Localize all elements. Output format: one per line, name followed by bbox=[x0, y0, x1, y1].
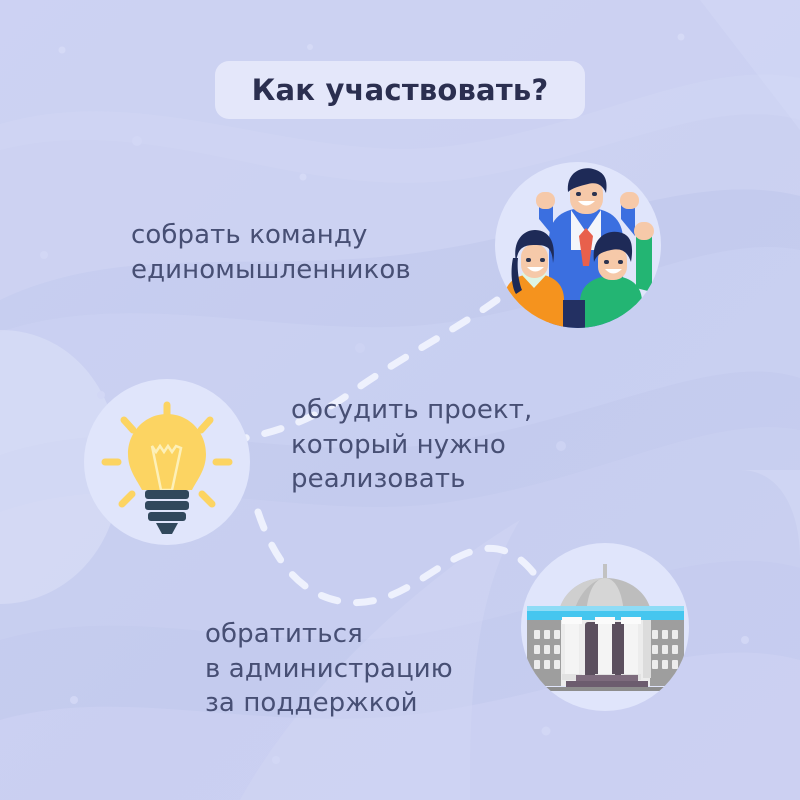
bulb-glass bbox=[128, 414, 206, 490]
step-3-caption: обратиться в администрацию за поддержкой bbox=[205, 617, 453, 721]
roof-band-light bbox=[527, 606, 684, 611]
window bbox=[652, 660, 658, 669]
bulb-base-ring-3 bbox=[148, 512, 186, 521]
eye bbox=[540, 258, 545, 262]
bulb-base-ring-1 bbox=[145, 490, 189, 499]
ground-line bbox=[527, 687, 684, 691]
hand-right bbox=[620, 192, 639, 209]
column bbox=[598, 620, 612, 678]
column-capital bbox=[562, 617, 582, 624]
stairs-bottom bbox=[566, 681, 648, 687]
column bbox=[565, 620, 579, 678]
infographic-poster: Как участвовать? собрать команду единомы… bbox=[0, 0, 800, 800]
stairs-top bbox=[576, 675, 638, 681]
eye bbox=[604, 260, 609, 264]
column-capital bbox=[621, 617, 641, 624]
columns bbox=[562, 617, 651, 680]
step-1-illustration bbox=[495, 162, 661, 330]
bulb-base-ring-2 bbox=[145, 501, 189, 510]
window bbox=[652, 645, 658, 654]
page-title: Как участвовать? bbox=[252, 73, 549, 107]
window bbox=[672, 645, 678, 654]
shadow-gap bbox=[563, 300, 585, 330]
window bbox=[662, 630, 668, 639]
windows-right bbox=[652, 630, 678, 669]
window bbox=[544, 660, 550, 669]
window bbox=[544, 645, 550, 654]
window bbox=[554, 660, 560, 669]
eye bbox=[592, 192, 597, 196]
step-2-illustration bbox=[84, 379, 250, 545]
window bbox=[662, 645, 668, 654]
window bbox=[544, 630, 550, 639]
column bbox=[624, 620, 638, 678]
eye bbox=[618, 260, 623, 264]
window bbox=[554, 630, 560, 639]
window bbox=[534, 660, 540, 669]
column-capital bbox=[595, 617, 615, 624]
window bbox=[672, 660, 678, 669]
window bbox=[672, 630, 678, 639]
step-1-caption: собрать команду единомышленников bbox=[131, 218, 411, 287]
eye bbox=[576, 192, 581, 196]
window bbox=[554, 645, 560, 654]
windows-left bbox=[534, 630, 560, 669]
window bbox=[534, 630, 540, 639]
window bbox=[652, 630, 658, 639]
hand-raised bbox=[634, 222, 654, 240]
step-3-illustration bbox=[521, 543, 689, 711]
window bbox=[534, 645, 540, 654]
title-pill: Как участвовать? bbox=[215, 61, 585, 119]
step-2-caption: обсудить проект, который нужно реализова… bbox=[291, 393, 532, 497]
eye bbox=[526, 258, 531, 262]
green-man-body bbox=[580, 276, 642, 330]
column bbox=[643, 620, 651, 678]
window bbox=[662, 660, 668, 669]
hand-left bbox=[536, 192, 555, 209]
